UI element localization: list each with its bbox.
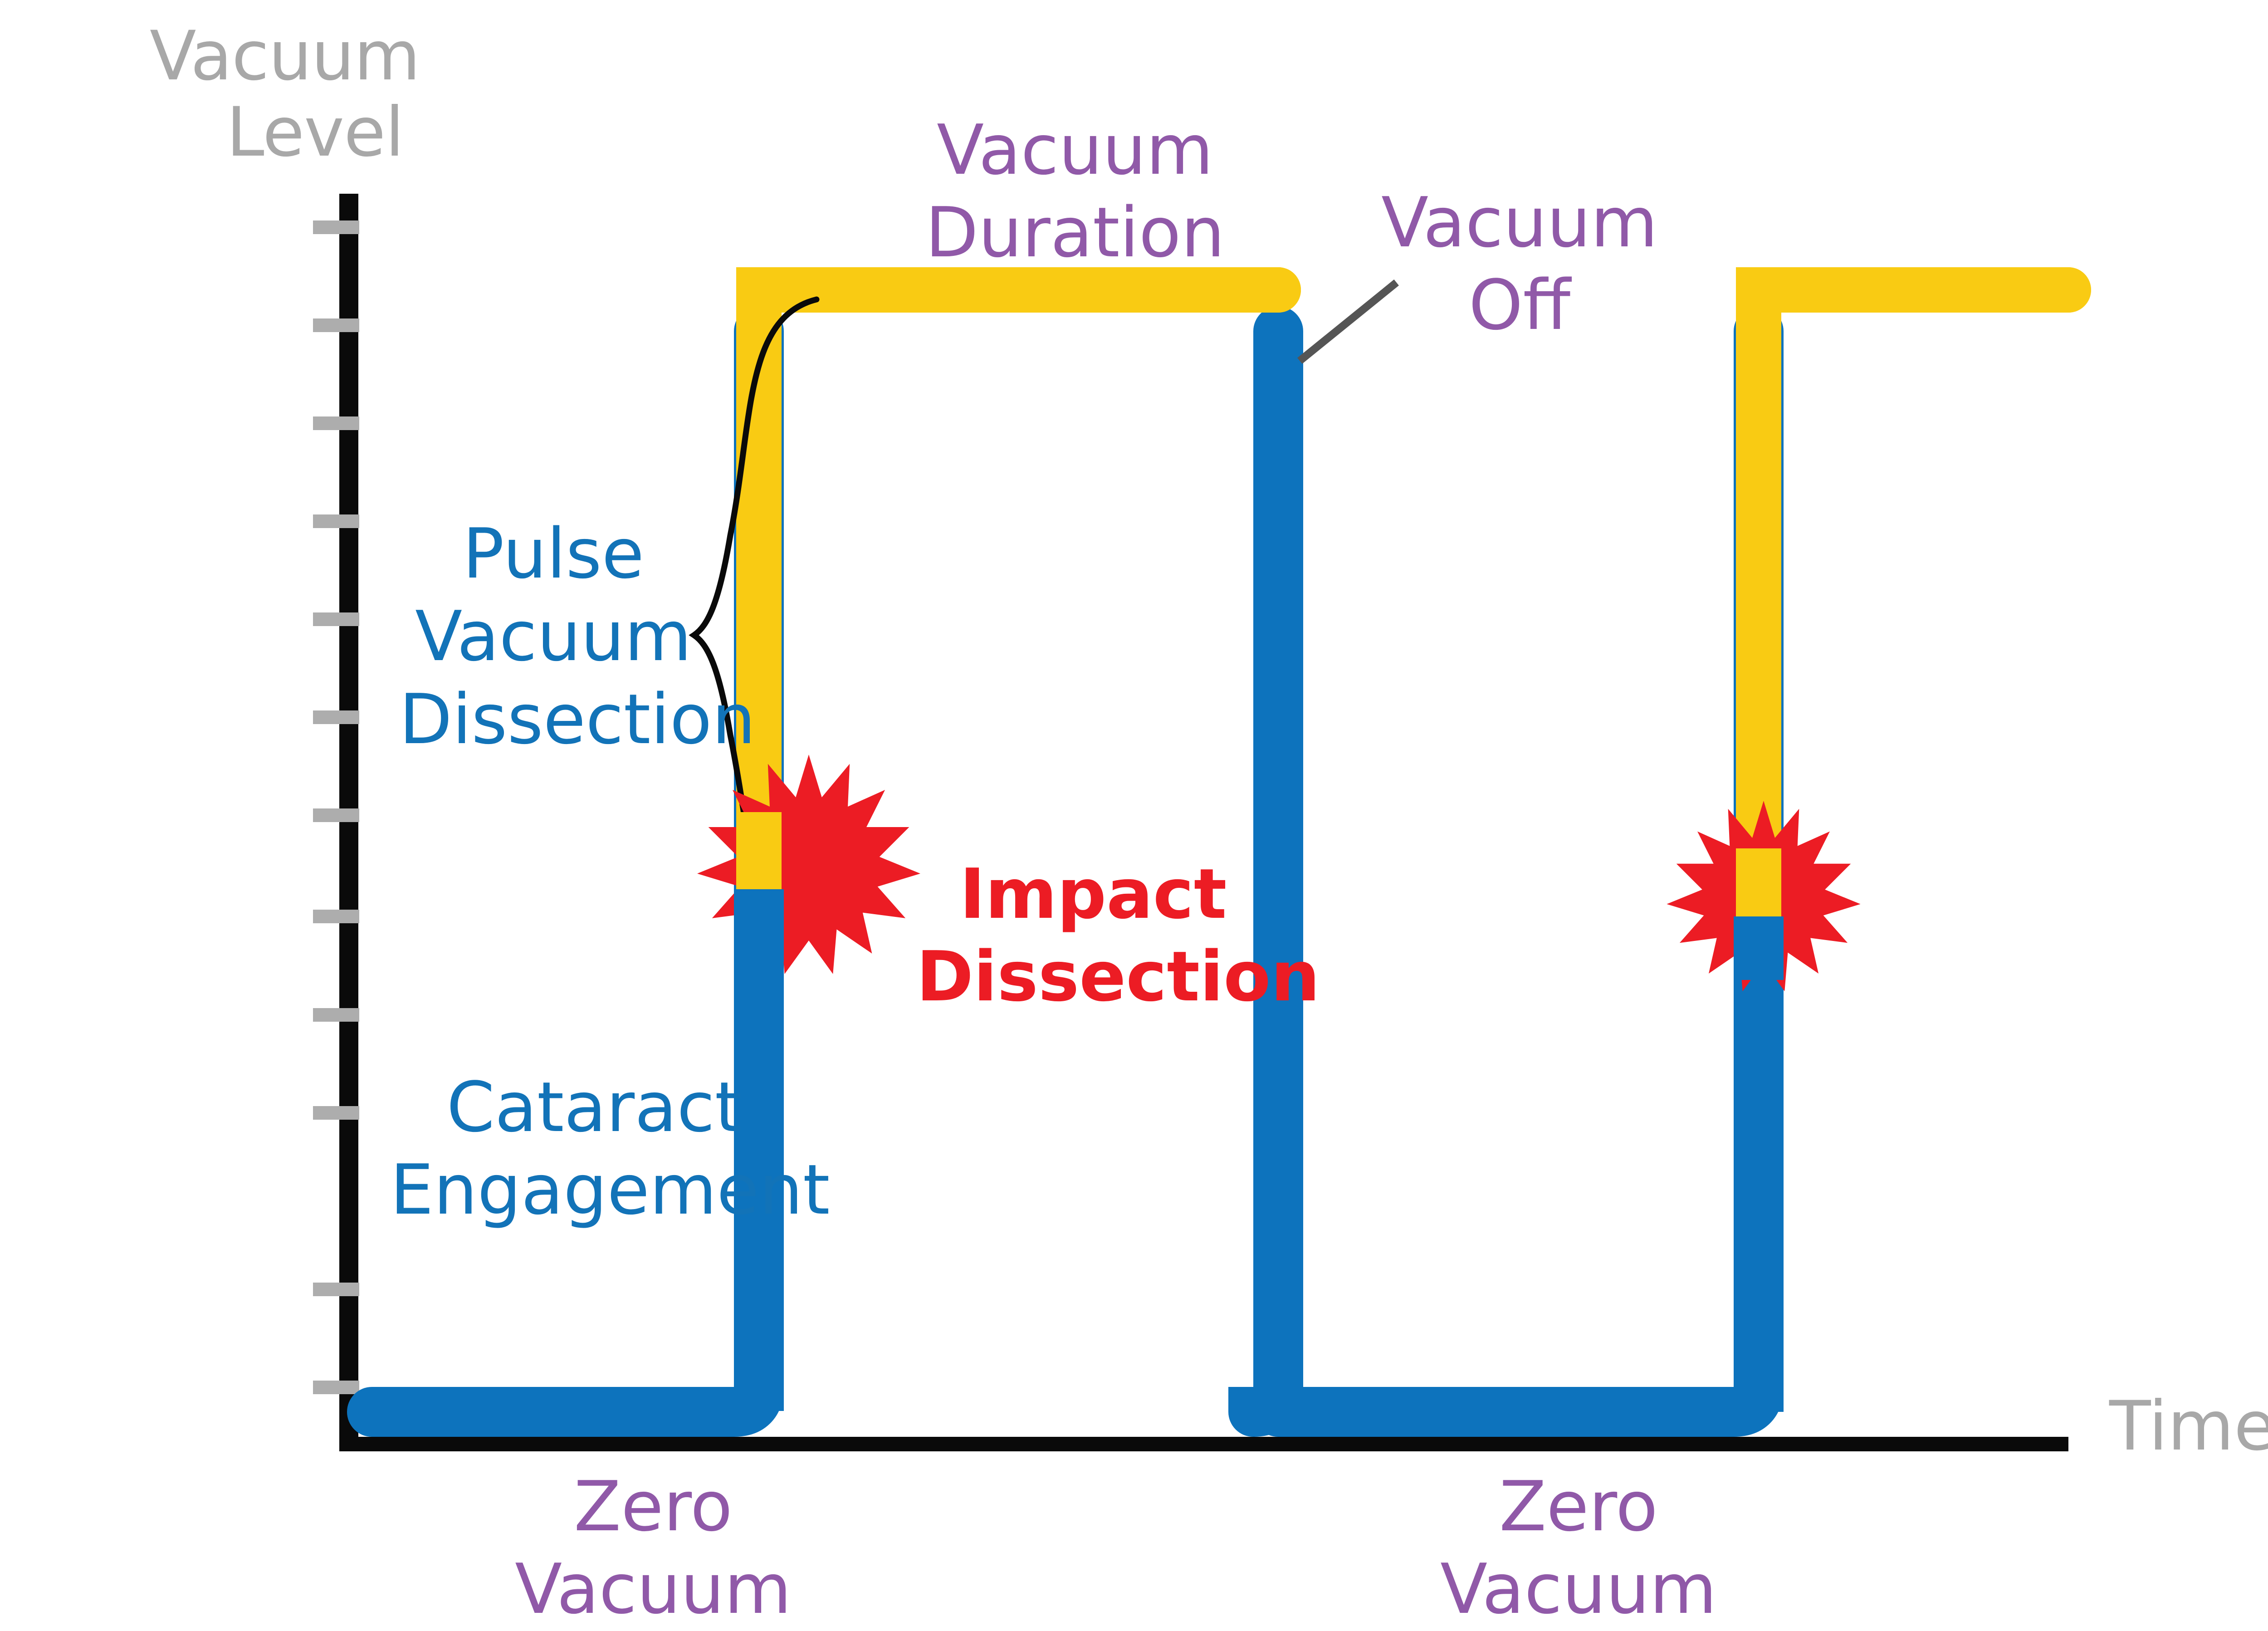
label-line-1: Vacuum <box>1374 181 1665 264</box>
label-line-2: Engagement <box>390 1149 798 1231</box>
label-line-1: Cataract <box>390 1066 798 1149</box>
yellow-pulse-trace <box>759 290 2068 916</box>
label-line-2: Duration <box>875 191 1275 274</box>
label-line-2: Vacuum <box>399 595 708 678</box>
label-line-1: Zero <box>472 1465 835 1548</box>
label-line-2: Off <box>1374 264 1665 347</box>
pulse-vacuum-dissection-label: Pulse Vacuum Dissection <box>399 513 708 761</box>
impact-core-2 <box>1734 848 1784 980</box>
zero-vacuum-label-2: Zero Vacuum <box>1397 1465 1760 1631</box>
label-line-1: Vacuum <box>875 109 1275 191</box>
label-line-1: Impact <box>916 853 1270 935</box>
diagram-canvas: Vacuum Level Vacuum Level Time <box>0 0 2268 1619</box>
label-line-2: Vacuum <box>472 1548 835 1631</box>
vacuum-duration-label: Vacuum Duration <box>875 109 1275 274</box>
impact-core-1 <box>734 812 784 962</box>
vacuum-off-label: Vacuum Off <box>1374 181 1665 347</box>
label-line-1: Zero <box>1397 1465 1760 1548</box>
yellow-plateau-overlay <box>736 267 2068 916</box>
impact-burst-1-icon <box>697 754 920 974</box>
label-line-2: Vacuum <box>1397 1548 1760 1631</box>
impact-dissection-label: Impact Dissection <box>916 853 1270 1019</box>
zero-vacuum-label-1: Zero Vacuum <box>472 1465 835 1631</box>
cataract-engagement-label: Cataract Engagement <box>390 1066 798 1232</box>
label-line-3: Dissection <box>399 678 708 761</box>
label-line-1: Pulse <box>399 513 708 595</box>
label-line-2: Dissection <box>916 935 1270 1018</box>
